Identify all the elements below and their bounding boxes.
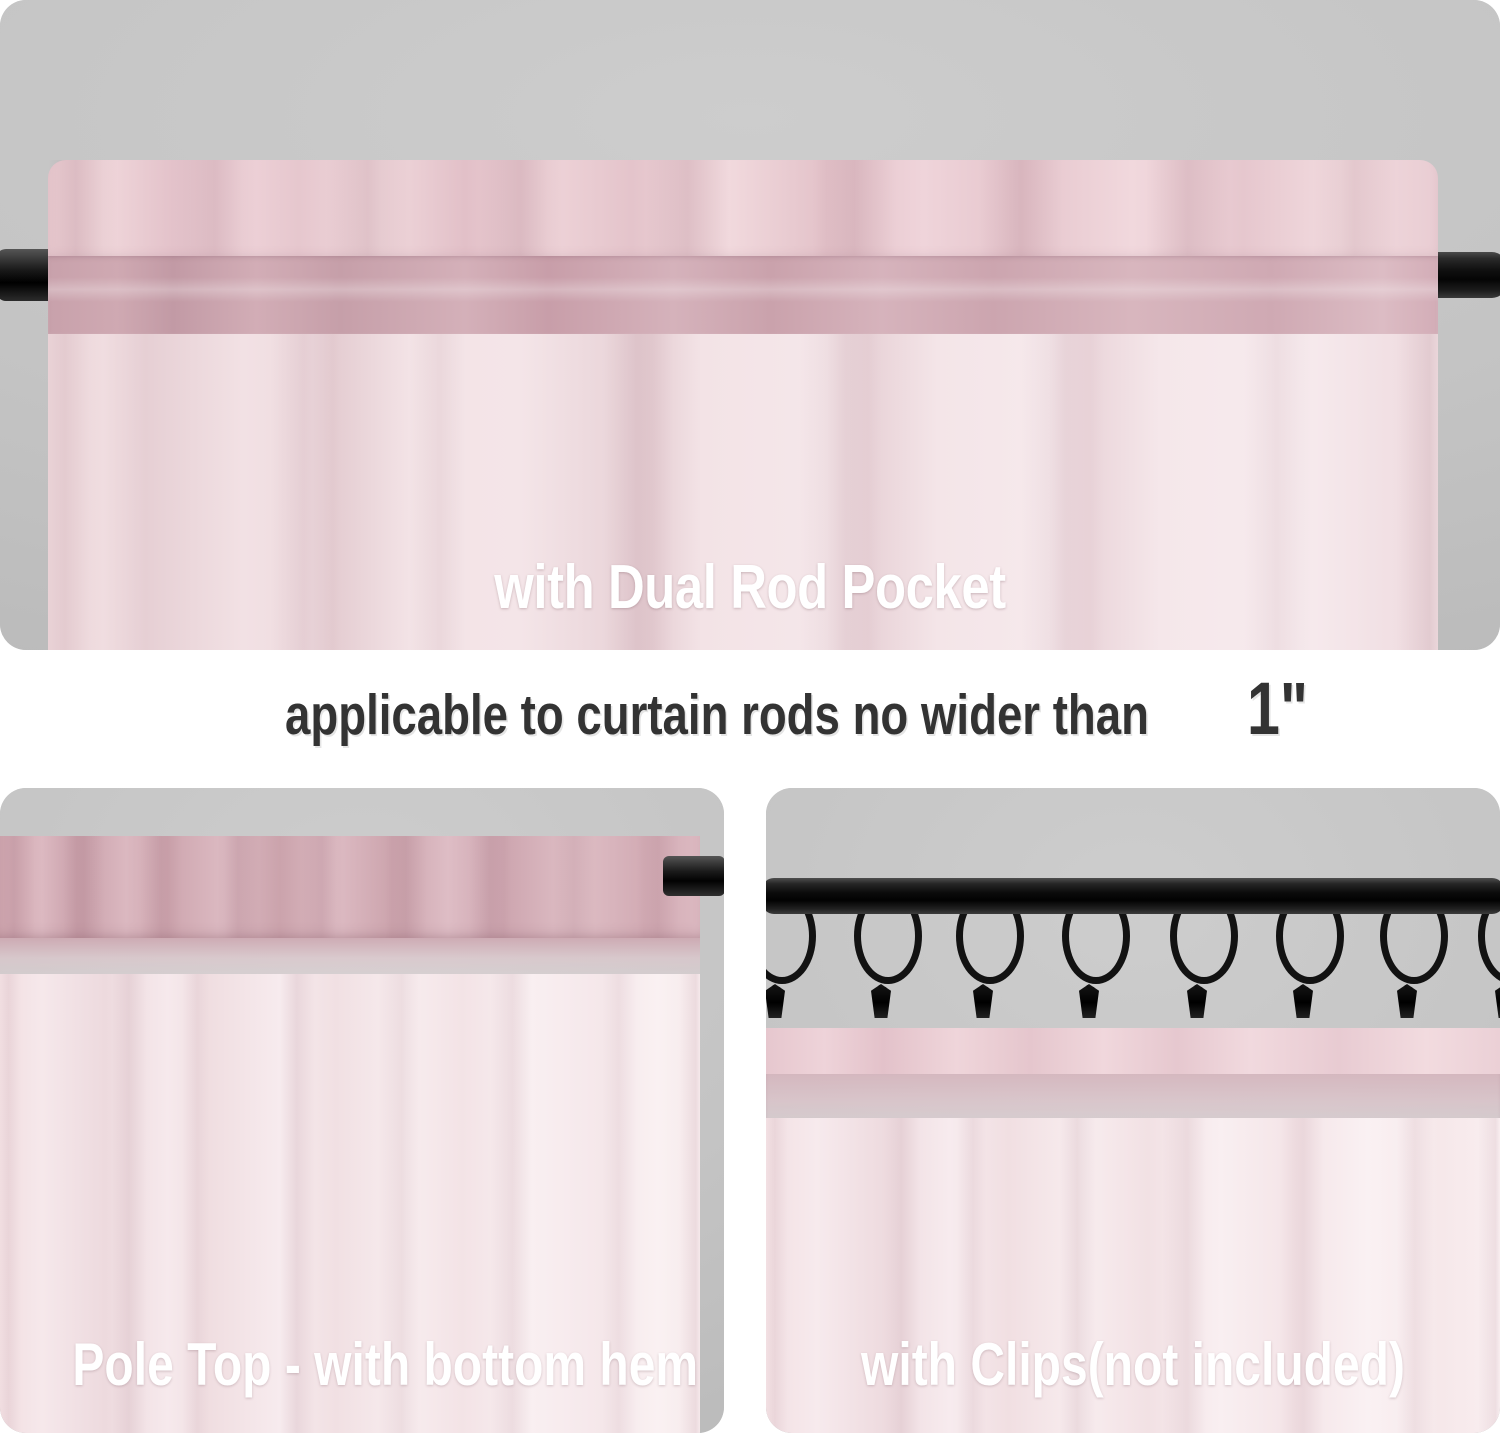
curtain-rod [766,878,1500,914]
sheer-hem-band [766,1074,1500,1122]
caption-pole-top: Pole Top - with bottom hem [72,1335,651,1395]
gather-shading [0,836,700,938]
rod-end-cap-icon [663,856,724,896]
panel-dual-rod-pocket: with Dual Rod Pocket [0,0,1500,650]
curtain-clip-icon [1187,984,1207,1018]
curtain-clip-icon [1293,984,1313,1018]
rod-pocket-band [48,256,1438,338]
curtain-ruffle-header [48,160,1438,264]
curtain-clip-icon [1397,984,1417,1018]
curtain-top-edge [766,1028,1500,1074]
curtain-clip-icon [973,984,993,1018]
caption-dual-rod-pocket: with Dual Rod Pocket [135,557,1365,619]
caption-rod-width-measure: 1" [1247,672,1308,746]
sheer-hem-band [0,938,700,978]
caption-clips: with Clips(not included) [839,1335,1426,1395]
curtain-clip-icon [1079,984,1099,1018]
curtain-ruffle-header [0,836,700,938]
caption-rod-width-note: applicable to curtain rods no wider than… [0,672,1500,746]
curtain-clip-icon [871,984,891,1018]
gather-shading [48,160,1438,264]
infographic-root: 3 Hanging Options with Dual Rod Pocket a… [0,0,1500,1446]
caption-rod-width-text: applicable to curtain rods no wider than [285,687,1149,744]
